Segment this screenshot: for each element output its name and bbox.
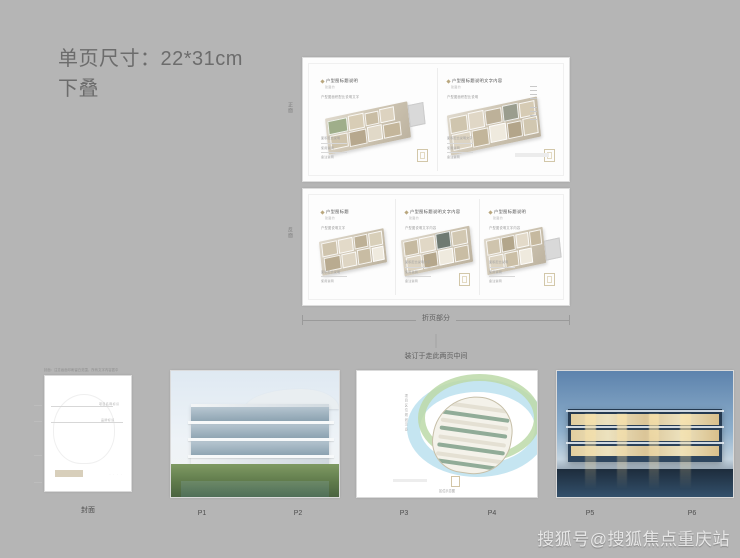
- page-title-text: 户型图标题说明: [494, 209, 526, 215]
- cover-frame[interactable]: 项目名称标识 品牌标识 · · · ·: [44, 375, 132, 492]
- divider: [489, 276, 515, 277]
- page-title-line2: 下叠: [58, 74, 243, 104]
- footer-line-1: 面积配比说明文字: [447, 136, 473, 141]
- footer-line-3: 备注说明: [447, 155, 473, 160]
- footer-line-3: 备注说明: [489, 279, 515, 284]
- cover-dots: · · · ·: [110, 472, 124, 476]
- spread-page-back-1[interactable]: 户型图标题 建面约 户型图说明文字: [312, 199, 396, 295]
- page-head: 户型图标题说明: [489, 209, 526, 215]
- measure-tick: [34, 455, 42, 456]
- water-pond: [181, 481, 329, 497]
- divider: [321, 276, 347, 277]
- page-footer-block: 面积配比说明 使用说明 备注说明: [489, 260, 515, 284]
- cover-text-2: 品牌标识: [101, 418, 115, 422]
- plan-vertical-label: 项目区位规划示意: [404, 394, 409, 432]
- seal-badge-icon: [459, 273, 470, 286]
- watermark: 搜狐号@搜狐焦点重庆站: [537, 525, 730, 550]
- footer-line-1: 面积配比说明: [321, 270, 347, 275]
- diamond-bullet-icon: [320, 79, 324, 83]
- glass-band: [191, 407, 329, 420]
- thumbnail-day-render[interactable]: P1 P2: [170, 370, 340, 498]
- page-title: 单页尺寸：22*31cm 下叠: [58, 44, 243, 104]
- page-title-text: 户型图标题: [326, 209, 349, 215]
- page-title-line1: 单页尺寸：22*31cm: [58, 44, 243, 74]
- thumbnail-cover[interactable]: 封面：注意画面印刷留白范围，所有文字内容居中 项目名称标识 品牌标识 · · ·…: [44, 365, 132, 492]
- diamond-bullet-icon: [488, 210, 492, 214]
- page-subtitle-text: 建面约: [409, 216, 419, 220]
- page-subtitle-text: 建面约: [451, 85, 461, 89]
- footer-line-2: 使用说明: [321, 279, 347, 284]
- page-footer-block: 面积配比说明文字 使用说明 备注说明: [405, 260, 431, 284]
- caption-p4: P4: [472, 510, 512, 517]
- page-title-text: 户型图标题说明: [326, 78, 358, 84]
- divider: [447, 143, 473, 144]
- bracket-cap-right: [569, 315, 570, 325]
- footer-line-1: 面积配比说明: [489, 260, 515, 265]
- thumbnail-site-plan[interactable]: 项目区位规划示意 区位示意图 P3 P4: [356, 370, 538, 498]
- caption-p1: P1: [182, 510, 222, 517]
- caption-p6: P6: [672, 510, 712, 517]
- page-desc-text: 户型图面积配比说明文字: [321, 94, 359, 99]
- spread-page-front-1[interactable]: 户型图标题说明 建面约 户型图面积配比说明文字: [312, 68, 438, 171]
- caption-p3: P3: [384, 510, 424, 517]
- divider: [447, 152, 473, 153]
- divider: [321, 143, 347, 144]
- page-head: 户型图标题: [321, 209, 349, 215]
- brochure-layout-canvas: 单页尺寸：22*31cm 下叠 正面 户型图标题说明 建面约 户型图面积配比说明…: [0, 0, 740, 558]
- spread-panel-front[interactable]: 正面 户型图标题说明 建面约 户型图面积配比说明文字: [302, 57, 570, 182]
- page-desc-text: 户型图说明文字: [321, 225, 345, 230]
- floor-slab: [188, 421, 334, 424]
- page-subtitle-text: 建面约: [325, 216, 335, 220]
- dimension-tick-column: [530, 86, 537, 120]
- fold-section-bracket: 折页部分: [302, 315, 570, 325]
- seal-badge-icon: [544, 273, 555, 286]
- spread-panel-back[interactable]: 反面 户型图标题 建面约 户型图说明文字: [302, 188, 570, 306]
- page-head: 户型图标题说明文字内容: [447, 78, 502, 84]
- diamond-bullet-icon: [320, 210, 324, 214]
- divider: [405, 267, 431, 268]
- spread-page-back-3[interactable]: 户型图标题说明 建面约 户型图说明文字内容: [480, 199, 564, 295]
- caption-p2: P2: [278, 510, 318, 517]
- diamond-bullet-icon: [404, 210, 408, 214]
- cover-rule-1: [51, 406, 113, 407]
- cover-annotation: 封面：注意画面印刷留白范围，所有文字内容居中: [44, 367, 119, 372]
- thumbnail-dusk-render[interactable]: P5 P6: [556, 370, 734, 498]
- cover-logo: [55, 470, 83, 477]
- footer-line-2: 使用说明: [489, 270, 515, 275]
- measure-tick: [34, 421, 42, 422]
- binding-note: 装订于走此两页中间: [405, 334, 468, 361]
- glass-band: [191, 441, 329, 454]
- building-mass: [191, 404, 329, 464]
- binding-note-label: 装订于走此两页中间: [405, 351, 468, 361]
- leader-line: [436, 334, 437, 348]
- dusk-render-frame[interactable]: [556, 370, 734, 498]
- panel-inner-front: 户型图标题说明 建面约 户型图面积配比说明文字: [308, 63, 564, 176]
- plan-seal-caption: 区位示意图: [439, 488, 455, 493]
- day-render-frame[interactable]: [170, 370, 340, 498]
- panel-side-label-back: 反面: [287, 227, 292, 238]
- floor-slab: [566, 410, 724, 413]
- spread-preview-group: 正面 户型图标题说明 建面约 户型图面积配比说明文字: [302, 57, 570, 306]
- floor-slab: [188, 455, 334, 458]
- page-desc-text: 户型图说明文字内容: [489, 225, 520, 230]
- thumbnail-row: 封面：注意画面印刷留白范围，所有文字内容居中 项目名称标识 品牌标识 · · ·…: [0, 365, 740, 525]
- site-plan-frame[interactable]: 项目区位规划示意 区位示意图: [356, 370, 538, 498]
- measure-tick: [34, 482, 42, 483]
- dimension-note-bar: [515, 153, 549, 157]
- divider: [405, 276, 431, 277]
- page-desc-text: 户型图面积配比说明: [447, 94, 478, 99]
- floorplan-render-3d: [319, 228, 387, 276]
- light-reflection: [617, 414, 628, 490]
- panel-inner-back: 户型图标题 建面约 户型图说明文字: [308, 194, 564, 300]
- page-subtitle-text: 建面约: [325, 85, 335, 89]
- page-footer-block: 面积配比说明 使用说明 备注说明: [321, 136, 347, 160]
- plan-seal-icon: [451, 476, 460, 487]
- floor-slab: [188, 438, 334, 441]
- cover-rule-2: [51, 422, 123, 423]
- page-desc-text: 户型图说明文字内容: [405, 225, 436, 230]
- measure-tick: [34, 405, 42, 406]
- divider: [321, 152, 347, 153]
- light-reflection: [649, 414, 660, 490]
- page-head: 户型图标题说明文字内容: [405, 209, 460, 215]
- footer-line-2: 使用说明: [405, 270, 431, 275]
- page-subtitle-text: 建面约: [493, 216, 503, 220]
- light-reflection: [585, 414, 596, 490]
- footer-line-3: 备注说明: [405, 279, 431, 284]
- footer-line-3: 备注说明: [321, 155, 347, 160]
- fold-section-label: 折页部分: [416, 313, 456, 323]
- page-head: 户型图标题说明: [321, 78, 358, 84]
- page-footer-block: 面积配比说明文字 使用说明 备注说明: [447, 136, 473, 160]
- bracket-cap-left: [302, 315, 303, 325]
- footer-line-1: 面积配比说明: [321, 136, 347, 141]
- page-title-text: 户型图标题说明文字内容: [410, 209, 460, 215]
- spread-page-back-2[interactable]: 户型图标题说明文字内容 建面约 户型图说明文字内容: [396, 199, 480, 295]
- page-footer-block: 面积配比说明 使用说明: [321, 270, 347, 284]
- reflecting-pool: [557, 469, 733, 497]
- footer-line-2: 使用说明: [447, 146, 473, 151]
- page-title-text: 户型图标题说明文字内容: [452, 78, 502, 84]
- seal-badge-icon: [417, 149, 428, 162]
- glass-band: [191, 424, 329, 437]
- caption-cover: 封面: [44, 505, 132, 515]
- footer-line-1: 面积配比说明文字: [405, 260, 431, 265]
- footer-line-2: 使用说明: [321, 146, 347, 151]
- divider: [489, 267, 515, 268]
- panel-side-label-front: 正面: [287, 102, 292, 113]
- light-reflection: [680, 414, 691, 490]
- diamond-bullet-icon: [446, 79, 450, 83]
- cover-text-1: 项目名称标识: [99, 402, 119, 406]
- caption-p5: P5: [570, 510, 610, 517]
- plan-legend-bar: [393, 479, 427, 482]
